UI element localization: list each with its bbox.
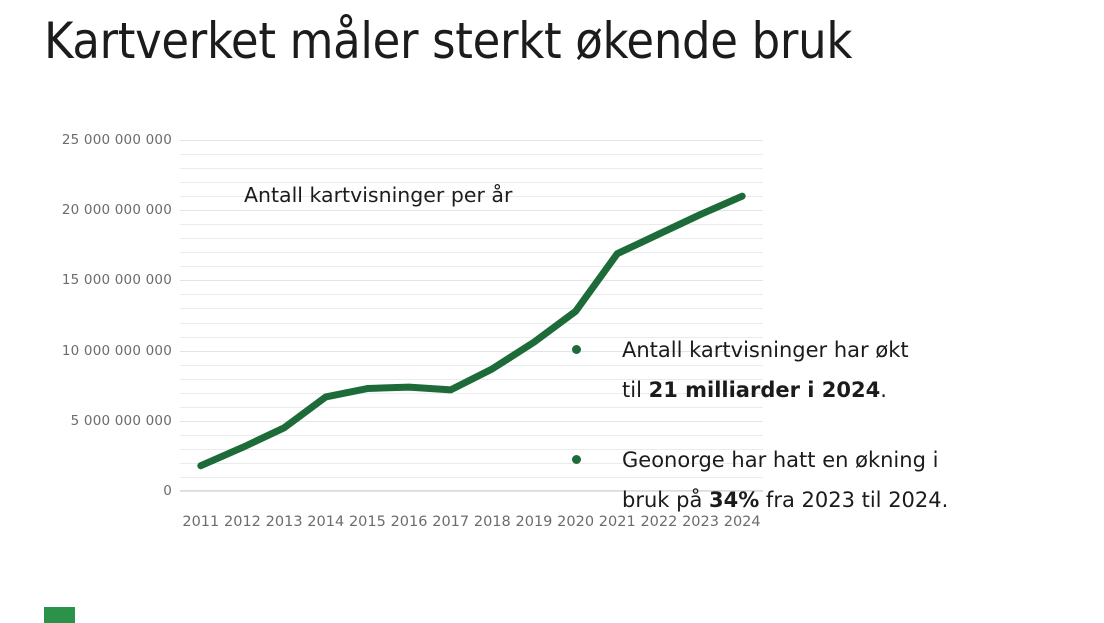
page-title: Kartverket måler sterkt økende bruk (44, 8, 1054, 74)
chart-title: Antall kartvisninger per år (244, 182, 512, 208)
x-axis-tick-label: 2018 (474, 512, 511, 532)
callout-line-2-suffix: . (880, 378, 887, 402)
y-axis-tick-label: 15 000 000 000 (0, 273, 172, 287)
x-axis-tick-label: 2017 (432, 512, 469, 532)
callout-list: Antall kartvisninger har økt til 21 mill… (572, 330, 992, 520)
list-item: Antall kartvisninger har økt til 21 mill… (572, 330, 992, 410)
x-axis-tick-label: 2019 (516, 512, 553, 532)
x-axis-tick-label: 2013 (266, 512, 303, 532)
callout-line-2-bold: 34% (709, 488, 759, 512)
y-axis-tick-label: 25 000 000 000 (0, 133, 172, 147)
x-axis-tick-label: 2014 (307, 512, 344, 532)
callout-line-2-bold: 21 milliarder i 2024 (649, 378, 881, 402)
y-axis-tick-label: 0 (0, 484, 172, 498)
callout-line-2-prefix: bruk på (622, 488, 709, 512)
callout-text-0: Antall kartvisninger har økt til 21 mill… (622, 330, 909, 410)
bullet-icon (572, 345, 581, 354)
list-item: Geonorge har hatt en økning i bruk på 34… (572, 440, 992, 520)
x-axis-tick-label: 2016 (391, 512, 428, 532)
y-axis-tick-label: 20 000 000 000 (0, 203, 172, 217)
bullet-icon (572, 455, 581, 464)
x-axis-tick-label: 2015 (349, 512, 386, 532)
x-axis-tick-label: 2012 (224, 512, 261, 532)
callout-line-2-prefix: til (622, 378, 649, 402)
callout-line-1: Geonorge har hatt en økning i (622, 448, 938, 472)
y-axis-tick-label: 10 000 000 000 (0, 344, 172, 358)
x-axis-tick-label: 2011 (182, 512, 219, 532)
y-axis-tick-label: 5 000 000 000 (0, 414, 172, 428)
callout-text-1: Geonorge har hatt en økning i bruk på 34… (622, 440, 948, 520)
y-axis: 05 000 000 00010 000 000 00015 000 000 0… (0, 140, 172, 502)
callout-line-1: Antall kartvisninger har økt (622, 338, 909, 362)
callout-line-2-suffix: fra 2023 til 2024. (759, 488, 948, 512)
